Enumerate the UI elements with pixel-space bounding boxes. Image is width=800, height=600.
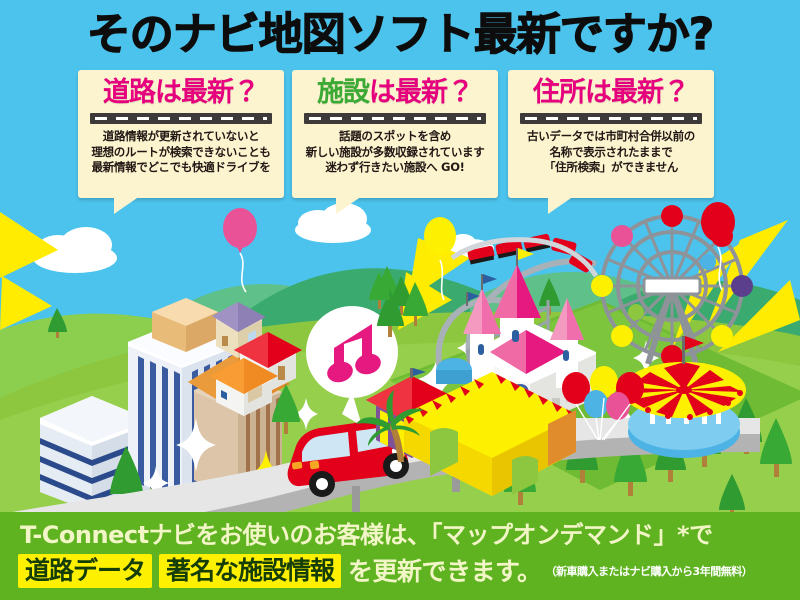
bubble-road-title: 道路は最新？: [78, 77, 284, 109]
bubble-facility: 施設は最新？ 話題のスポットを含め 新しい施設が多数収録されています 迷わず行き…: [292, 70, 498, 198]
bubble-road: 道路は最新？ 道路情報が更新されていないと 理想のルートが検索できないことも 最…: [78, 70, 284, 198]
bubble-facility-body-line: 迷わず行きたい施設へ GO!: [296, 160, 494, 176]
badge-road-data: 道路データ: [18, 554, 152, 588]
bubble-address-body: 古いデータでは市町村合併以前の 名称で表示されたままで 「住所検索」ができません: [512, 129, 710, 176]
road-divider-icon: [520, 113, 702, 124]
bubble-facility-title-magenta: は最新？: [369, 77, 473, 108]
road-divider-icon: [304, 113, 486, 124]
bubble-road-body-line: 最新情報でどこでも快適ドライブを: [82, 160, 280, 176]
bubble-road-body-line: 理想のルートが検索できないことも: [82, 145, 280, 161]
page-title: そのナビ地図ソフト最新ですか?: [0, 6, 800, 64]
bubble-facility-body-line: 話題のスポットを含め: [296, 129, 494, 145]
badge-facility-info: 著名な施設情報: [159, 554, 341, 588]
bubble-facility-body-line: 新しい施設が多数収録されています: [296, 145, 494, 161]
bubble-address-body-line: 古いデータでは市町村合併以前の: [512, 129, 710, 145]
bubble-road-title-text: 道路は最新？: [103, 77, 259, 108]
bubble-facility-body: 話題のスポットを含め 新しい施設が多数収録されています 迷わず行きたい施設へ G…: [296, 129, 494, 176]
bottom-banner: T-Connectナビをお使いのお客様は、「マップオンデマンド」*で 道路データ…: [0, 512, 800, 600]
bubble-address-body-line: 名称で表示されたままで: [512, 145, 710, 161]
bubble-address-body-line: 「住所検索」ができません: [512, 160, 710, 176]
headline-band: そのナビ地図ソフト最新ですか?: [0, 0, 800, 70]
road-divider-icon: [90, 113, 272, 124]
banner-footnote: （新車購入またはナビ購入から3年間無料）: [546, 555, 753, 588]
bubble-row: 道路は最新？ 道路情報が更新されていないと 理想のルートが検索できないことも 最…: [0, 70, 800, 210]
bubble-facility-title-green: 施設: [317, 77, 369, 108]
poster-canvas: そのナビ地図ソフト最新ですか? 道路は最新？ 道路情報が更新されていないと 理想…: [0, 0, 800, 600]
bubble-address-title: 住所は最新？: [508, 77, 714, 109]
bubble-address: 住所は最新？ 古いデータでは市町村合併以前の 名称で表示されたままで 「住所検索…: [508, 70, 714, 198]
banner-rest-text: を更新できます。: [348, 555, 542, 588]
banner-headline: T-Connectナビをお使いのお客様は、「マップオンデマンド」*で: [20, 520, 713, 550]
bubble-facility-title: 施設は最新？: [292, 77, 498, 109]
bubble-address-title-text: 住所は最新？: [533, 77, 689, 108]
bubble-road-body-line: 道路情報が更新されていないと: [82, 129, 280, 145]
banner-second-line: 道路データ 著名な施設情報 を更新できます。 （新車購入またはナビ購入から3年間…: [18, 554, 752, 588]
bubble-road-body: 道路情報が更新されていないと 理想のルートが検索できないことも 最新情報でどこで…: [82, 129, 280, 176]
